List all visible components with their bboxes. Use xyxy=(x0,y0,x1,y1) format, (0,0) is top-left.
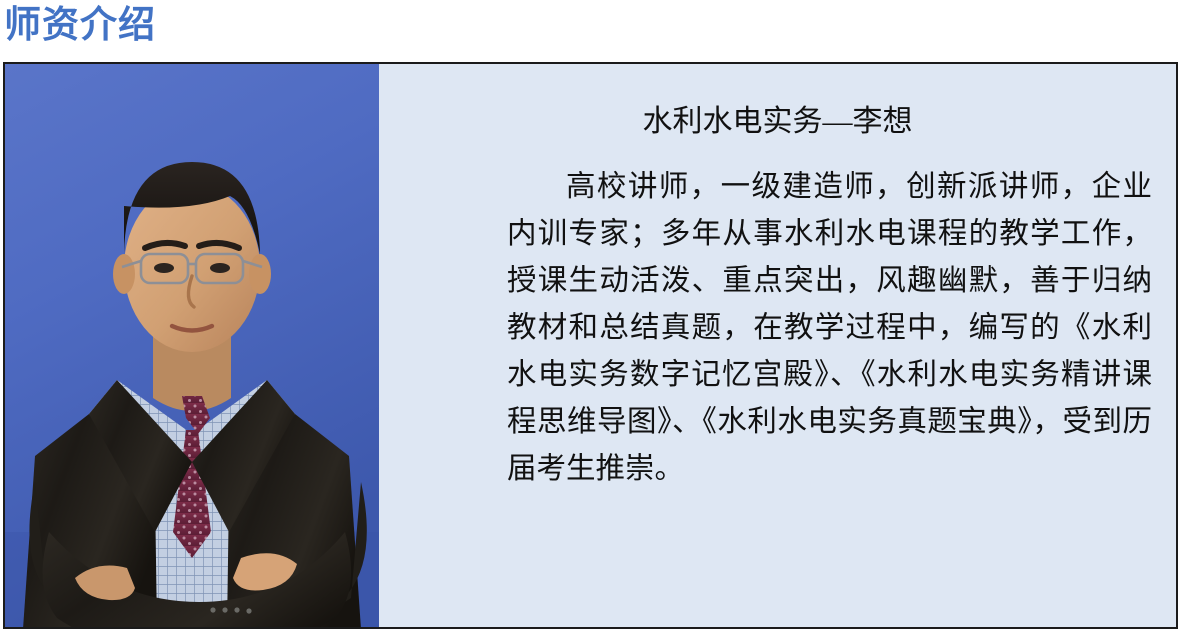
instructor-photo xyxy=(5,64,379,627)
instructor-portrait-illustration xyxy=(5,64,379,627)
instructor-bio-panel: 水利水电实务—李想 高校讲师，一级建造师，创新派讲师，企业内训专家；多年从事水利… xyxy=(379,64,1176,627)
instructor-profile-card: 水利水电实务—李想 高校讲师，一级建造师，创新派讲师，企业内训专家；多年从事水利… xyxy=(3,62,1178,629)
page-title: 师资介绍 xyxy=(4,2,156,50)
instructor-heading: 水利水电实务—李想 xyxy=(379,104,1176,140)
instructor-bio-text: 高校讲师，一级建造师，创新派讲师，企业内训专家；多年从事水利水电课程的教学工作，… xyxy=(507,164,1152,493)
